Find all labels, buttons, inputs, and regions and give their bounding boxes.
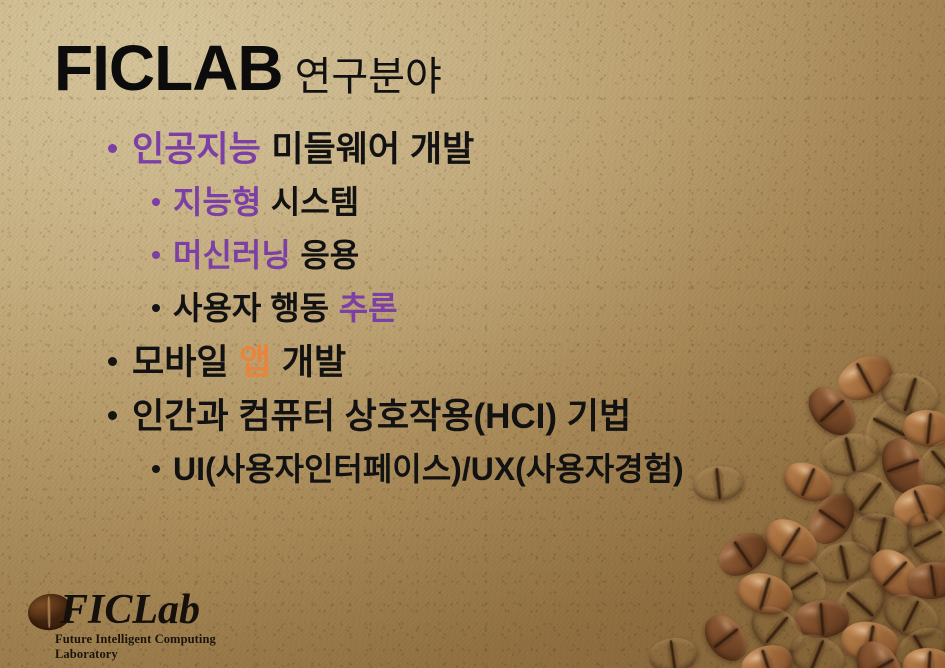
- bullet-list: 인공지능미들웨어 개발지능형시스템머신러닝응용사용자 행동추론모바일앱개발인간과…: [0, 132, 860, 506]
- bullet-dot-icon: [108, 411, 117, 420]
- title-main-text: FICLAB: [54, 32, 283, 104]
- bullet-dot-icon: [152, 304, 160, 312]
- bullet-text: 머신러닝응용: [173, 239, 359, 272]
- bullet-text: 인간과 컴퓨터 상호작용(HCI) 기법: [132, 399, 631, 435]
- bullet-text-segment: UI(사용자인터페이스)/UX(사용자경험): [173, 451, 684, 487]
- bullet-item: 사용자 행동추론: [0, 292, 860, 345]
- bullet-text-segment: 개발: [282, 343, 346, 382]
- bullet-item: 머신러닝응용: [0, 239, 860, 292]
- bullet-item: 인공지능미들웨어 개발: [0, 132, 860, 186]
- bullet-dot-icon: [108, 144, 117, 153]
- bullet-text: 사용자 행동추론: [173, 292, 398, 325]
- bullet-text-segment: 응용: [300, 237, 359, 273]
- bullet-dot-icon: [108, 357, 117, 366]
- title-subtitle-text: 연구분야: [295, 55, 442, 99]
- bullet-text: 인공지능미들웨어 개발: [132, 132, 474, 168]
- presentation-slide: FICLAB연구분야 인공지능미들웨어 개발지능형시스템머신러닝응용사용자 행동…: [0, 0, 945, 668]
- bullet-text-segment: 앱: [239, 343, 271, 382]
- bullet-text-segment: 모바일: [132, 343, 229, 382]
- bullet-item: 인간과 컴퓨터 상호작용(HCI) 기법: [0, 399, 860, 453]
- bullet-item: 모바일앱개발: [0, 345, 860, 399]
- ficlab-logo: FICLab Future Intelligent Computing Labo…: [24, 588, 239, 650]
- bullet-text-segment: 시스템: [271, 184, 359, 220]
- bullet-text-segment: 지능형: [173, 184, 261, 220]
- bullet-text-segment: 사용자 행동: [173, 290, 329, 326]
- bullet-text-segment: 미들웨어 개발: [271, 130, 474, 169]
- bullet-text: UI(사용자인터페이스)/UX(사용자경험): [173, 453, 684, 486]
- bullet-item: 지능형시스템: [0, 186, 860, 239]
- bullet-dot-icon: [152, 251, 160, 259]
- logo-wordmark: FICLab: [60, 586, 200, 634]
- bullet-text-segment: 인공지능: [132, 130, 261, 169]
- bullet-text-segment: 머신러닝: [173, 237, 291, 273]
- logo-tagline: Future Intelligent Computing Laboratory: [55, 632, 239, 662]
- bullet-text: 지능형시스템: [173, 186, 359, 219]
- bullet-dot-icon: [152, 198, 160, 206]
- slide-title: FICLAB연구분야: [54, 36, 442, 100]
- bullet-text: 모바일앱개발: [132, 345, 346, 381]
- bullet-item: UI(사용자인터페이스)/UX(사용자경험): [0, 453, 860, 506]
- bullet-text-segment: 인간과 컴퓨터 상호작용(HCI) 기법: [132, 397, 631, 436]
- bullet-text-segment: 추론: [339, 290, 398, 326]
- bullet-dot-icon: [152, 465, 160, 473]
